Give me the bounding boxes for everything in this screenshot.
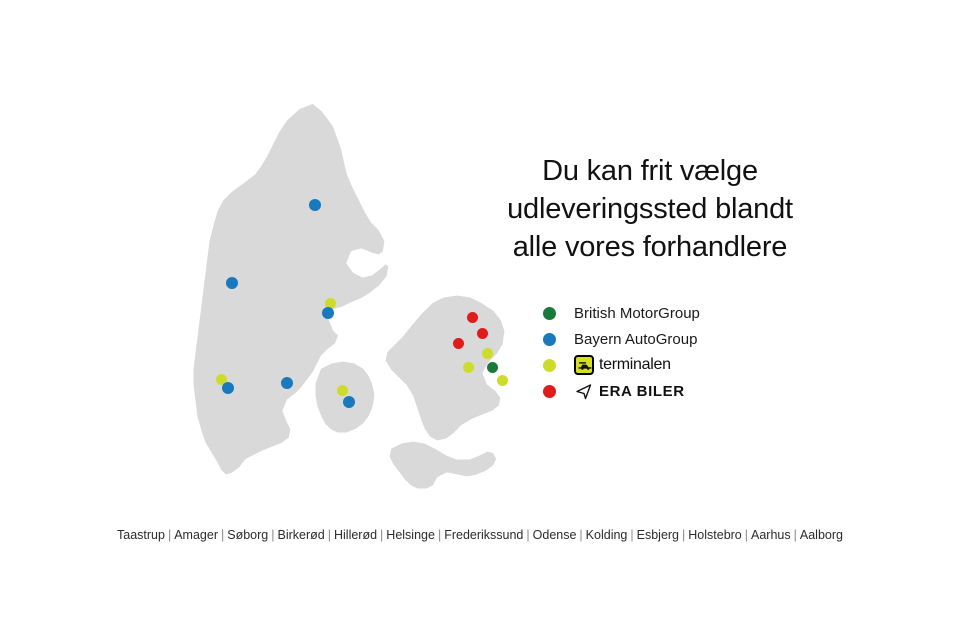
city-name-frederikssund: Frederikssund	[444, 528, 523, 542]
dealer-dot-birkerd[interactable]	[482, 348, 493, 359]
dealer-dot-aalborg[interactable]	[309, 199, 321, 211]
city-name-helsinge: Helsinge	[386, 528, 435, 542]
headline-line-1: Du kan frit vælge	[450, 152, 850, 190]
dealer-dot-kolding[interactable]	[281, 377, 293, 389]
infographic-canvas: Du kan frit vælge udleveringssted blandt…	[0, 0, 960, 640]
dealer-dot-hillerd[interactable]	[477, 328, 488, 339]
city-name-sborg: Søborg	[227, 528, 268, 542]
city-name-amager: Amager	[174, 528, 218, 542]
city-name-odense: Odense	[533, 528, 577, 542]
city-separator: |	[165, 528, 174, 542]
city-name-aarhus: Aarhus	[751, 528, 791, 542]
city-separator: |	[377, 528, 386, 542]
era-biler-wordmark: ERA BILER	[599, 383, 685, 400]
legend-body-terminalen: terminalen	[574, 355, 671, 375]
legend-swatch-british-motorgroup	[543, 307, 556, 320]
city-name-holstebro: Holstebro	[688, 528, 742, 542]
legend-item-era-biler[interactable]: ERA BILER	[543, 378, 843, 404]
city-separator: |	[435, 528, 444, 542]
legend-swatch-terminalen	[543, 359, 556, 372]
terminalen-wordmark: terminalen	[599, 356, 671, 374]
legend-item-bayern-autogroup[interactable]: Bayern AutoGroup	[543, 326, 843, 352]
city-separator: |	[679, 528, 688, 542]
terminalen-car-icon	[574, 355, 594, 375]
dealer-dot-helsinge[interactable]	[467, 312, 478, 323]
city-name-taastrup: Taastrup	[117, 528, 165, 542]
city-name-aalborg: Aalborg	[800, 528, 843, 542]
page-title: Du kan frit vælge udleveringssted blandt…	[450, 152, 850, 266]
legend-item-british-motorgroup[interactable]: British MotorGroup	[543, 300, 843, 326]
legend-item-terminalen[interactable]: terminalen	[543, 352, 843, 378]
city-separator: |	[742, 528, 751, 542]
dealer-dot-amager[interactable]	[497, 375, 508, 386]
dealer-dot-esbjerg[interactable]	[222, 382, 234, 394]
legend-body-bayern-autogroup: Bayern AutoGroup	[574, 331, 697, 348]
legend-swatch-era-biler	[543, 385, 556, 398]
dealer-dot-odense[interactable]	[337, 385, 348, 396]
dealer-dot-sborg[interactable]	[487, 362, 498, 373]
headline-line-3: alle vores forhandlere	[450, 228, 850, 266]
city-name-kolding: Kolding	[586, 528, 628, 542]
city-name-birkerd: Birkerød	[278, 528, 325, 542]
city-separator: |	[576, 528, 585, 542]
city-list: Taastrup|Amager|Søborg|Birkerød|Hillerød…	[0, 528, 960, 542]
region-lolland-falster	[387, 439, 499, 491]
brand-legend: British MotorGroup Bayern AutoGroup	[543, 300, 843, 404]
city-separator: |	[791, 528, 800, 542]
legend-body-era-biler: ERA BILER	[574, 383, 685, 400]
era-triangle-icon	[574, 383, 594, 400]
city-separator: |	[627, 528, 636, 542]
legend-swatch-bayern-autogroup	[543, 333, 556, 346]
legend-label-bayern-autogroup: Bayern AutoGroup	[574, 331, 697, 348]
era-biler-logo: ERA BILER	[574, 383, 685, 400]
headline-line-2: udleveringssted blandt	[450, 190, 850, 228]
dealer-dot-aarhus[interactable]	[322, 307, 334, 319]
legend-label-british-motorgroup: British MotorGroup	[574, 305, 700, 322]
dealer-dot-taastrup[interactable]	[463, 362, 474, 373]
car-glyph	[578, 361, 592, 370]
dealer-dot-holstebro[interactable]	[226, 277, 238, 289]
city-separator: |	[325, 528, 334, 542]
city-name-hillerd: Hillerød	[334, 528, 377, 542]
dealer-dot-frederikssund[interactable]	[453, 338, 464, 349]
terminalen-logo: terminalen	[574, 355, 671, 375]
city-name-esbjerg: Esbjerg	[637, 528, 679, 542]
dealer-dot-odense[interactable]	[343, 396, 355, 408]
city-separator: |	[268, 528, 277, 542]
legend-body-british-motorgroup: British MotorGroup	[574, 305, 700, 322]
city-separator: |	[218, 528, 227, 542]
city-separator: |	[523, 528, 532, 542]
